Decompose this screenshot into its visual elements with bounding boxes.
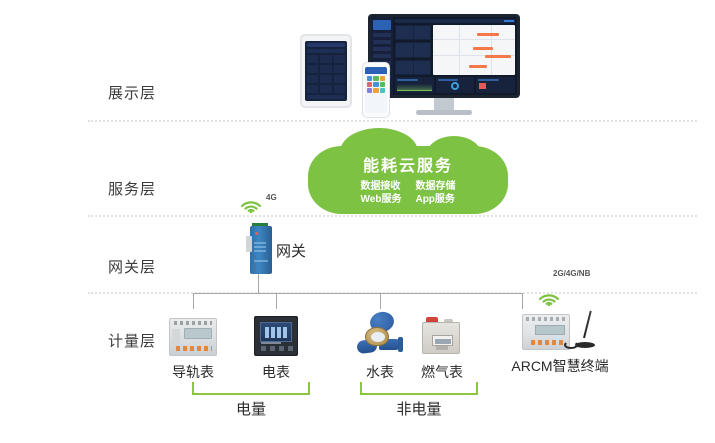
group-label-non-electric: 非电量 xyxy=(349,398,489,419)
tablet-device xyxy=(300,34,352,108)
gateway-device-icon xyxy=(246,226,272,274)
layer-label-gateway: 网关层 xyxy=(108,256,198,277)
monitor-stand-base xyxy=(416,110,472,115)
layer-label-display: 展示层 xyxy=(108,82,198,103)
bracket-electric-group xyxy=(192,382,310,395)
dashboard-topbar xyxy=(395,19,515,23)
arcm-terminal-label: ARCM智慧终端 xyxy=(500,356,620,376)
meter-label-gas: 燃气表 xyxy=(406,362,478,382)
connector-gateway-trunk xyxy=(258,274,259,294)
dashboard-bottom-cards xyxy=(395,77,515,93)
tablet-screen xyxy=(305,41,347,101)
desktop-monitor-device xyxy=(368,14,520,98)
arcm-uplink-label: 2G/4G/NB xyxy=(553,269,590,278)
dashboard-stat-cards xyxy=(395,25,431,75)
dashboard-map-panel xyxy=(433,25,515,75)
connector-branch-electric xyxy=(276,293,277,309)
monitor-bezel xyxy=(368,14,520,98)
antenna-icon xyxy=(572,310,598,350)
layer-divider-service-gateway xyxy=(88,215,697,217)
group-label-electric: 电量 xyxy=(181,398,321,419)
gateway-label: 网关 xyxy=(276,240,306,261)
gas-meter-icon xyxy=(406,306,478,356)
energy-cloud-service-node: 能耗云服务 数据接收 Web服务 数据存储 App服务 xyxy=(308,146,508,214)
meter-gas: 燃气表 xyxy=(406,306,478,382)
arcm-terminal-icon xyxy=(500,304,620,350)
meter-electric: 电表 xyxy=(240,308,312,382)
cloud-service-data-receive: 数据接收 xyxy=(361,180,402,193)
cloud-service-col-left: 数据接收 Web服务 xyxy=(361,180,402,206)
cloud-service-app: App服务 xyxy=(415,193,455,206)
wifi-signal-icon xyxy=(240,195,262,213)
panel-electric-meter-icon xyxy=(240,308,312,356)
layer-label-service: 服务层 xyxy=(108,178,198,199)
layer-divider-display-service xyxy=(88,120,697,122)
cloud-service-web: Web服务 xyxy=(361,193,402,206)
gateway-uplink-label: 4G xyxy=(266,193,277,202)
connector-horizontal-bus xyxy=(193,293,523,294)
display-layer-devices xyxy=(300,8,545,118)
meter-label-electric: 电表 xyxy=(240,362,312,382)
monitor-screen xyxy=(371,17,517,95)
smartphone-device xyxy=(362,62,390,118)
architecture-diagram: 展示层 服务层 网关层 计量层 xyxy=(0,0,715,443)
phone-screen xyxy=(365,67,387,113)
connector-branch-din-rail xyxy=(193,293,194,309)
cloud-service-col-right: 数据存储 App服务 xyxy=(415,180,455,206)
cloud-service-data-storage: 数据存储 xyxy=(415,180,455,193)
meter-label-din-rail: 导轨表 xyxy=(157,362,229,382)
arcm-smart-terminal: ARCM智慧终端 xyxy=(500,304,620,376)
meter-din-rail: 导轨表 xyxy=(157,308,229,382)
din-rail-meter-icon xyxy=(157,308,229,356)
bracket-non-electric-group xyxy=(360,382,478,395)
cloud-title: 能耗云服务 xyxy=(308,152,508,176)
